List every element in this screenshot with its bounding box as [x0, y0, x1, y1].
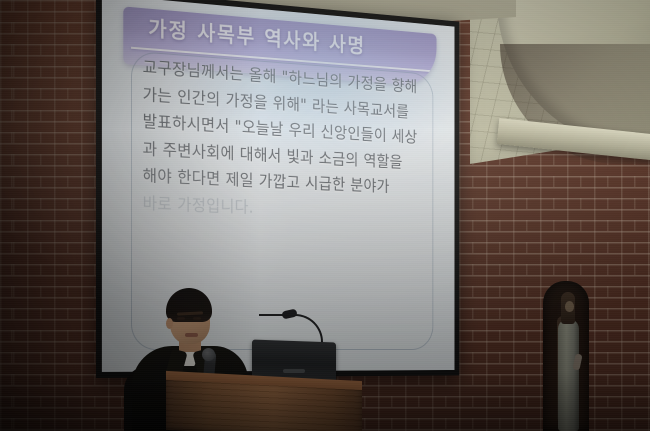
microphone-capsule: [202, 348, 215, 361]
virgin-mary-statue: [556, 292, 582, 431]
speaker-eye-right: [193, 317, 201, 320]
speaker-hair: [166, 288, 212, 322]
statue-face: [565, 301, 574, 312]
laptop-hinge: [283, 369, 305, 373]
speaker-ear: [166, 318, 173, 329]
slide-line-faded: 바로 가정입니다.: [143, 195, 435, 222]
speaker-mouth: [185, 333, 198, 337]
photo-scene: 가정 사목부 역사와 사명 교구장님께서는 올해 "하느님의 가정을 향해 가는…: [0, 0, 650, 431]
slide-line: 과 주변사회에 대해서 빛과 소금의 역할을: [143, 141, 435, 172]
slide-line: 해야 한다면 제일 가깝고 시급한 분야가: [143, 168, 435, 197]
slide-body-text: 교구장님께서는 올해 "하느님의 가정을 향해 가는 인간의 가정을 위해" 라…: [143, 60, 435, 233]
statue-robe: [558, 319, 579, 431]
speaker-eye-left: [177, 317, 185, 320]
